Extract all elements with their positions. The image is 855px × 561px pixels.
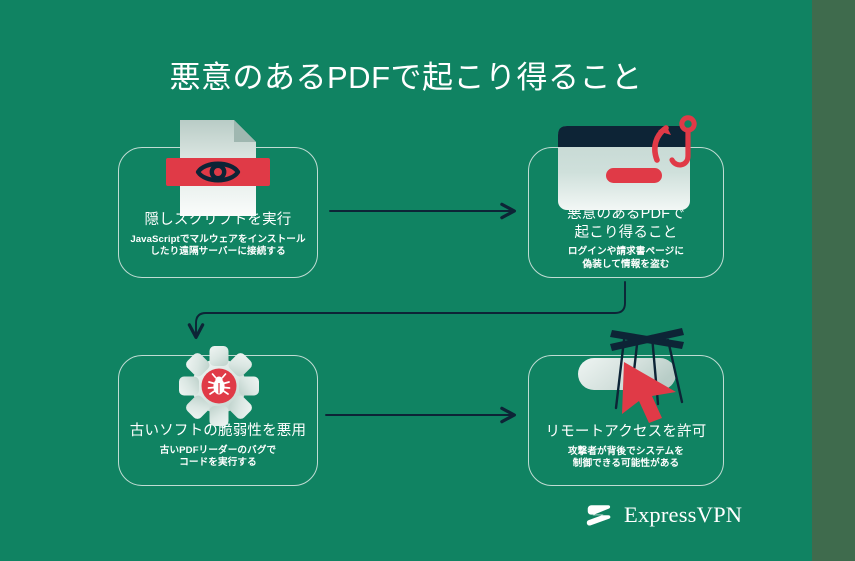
gear-bug-icon bbox=[176, 345, 262, 427]
card-malicious-pdf-text: 悪意のあるPDFで 起こり得ること ログインや請求書ページに 偽装して情報を盗む bbox=[529, 205, 723, 272]
infographic-canvas: 悪意のあるPDFで起こり得ること 隠しスクリプトを実行 JavaScriptでマ… bbox=[0, 0, 812, 561]
card-outdated-software-subtitle: 古いPDFリーダーのバグで コードを実行する bbox=[125, 445, 311, 471]
card-remote-access-subtitle: 攻撃者が背後でシステムを 制御できる可能性がある bbox=[535, 446, 717, 472]
puppet-cursor-icon bbox=[560, 322, 732, 426]
page-title: 悪意のあるPDFで起こり得ること bbox=[0, 52, 812, 97]
document-eye-icon bbox=[176, 120, 260, 216]
card-malicious-pdf-subtitle: ログインや請求書ページに 偽装して情報を盗む bbox=[535, 246, 717, 272]
card-hidden-script-text: 隠しスクリプトを実行 JavaScriptでマルウェアをインストール したり遠隔… bbox=[119, 211, 317, 259]
card-remote-access-text: リモートアクセスを許可 攻撃者が背後でシステムを 制御できる可能性がある bbox=[529, 423, 723, 471]
infographic-stage: 悪意のあるPDFで起こり得ること 隠しスクリプトを実行 JavaScriptでマ… bbox=[0, 0, 855, 561]
expressvpn-logo[interactable]: ExpressVPN bbox=[584, 500, 742, 530]
expressvpn-wordmark: ExpressVPN bbox=[624, 502, 742, 528]
card-malicious-pdf-title: 悪意のあるPDFで 起こり得ること bbox=[535, 205, 717, 242]
card-outdated-software-text: 古いソフトの脆弱性を悪用 古いPDFリーダーのバグで コードを実行する bbox=[119, 422, 317, 470]
expressvpn-logo-icon bbox=[584, 500, 614, 530]
card-hidden-script-subtitle: JavaScriptでマルウェアをインストール したり遠隔サーバーに接続する bbox=[125, 234, 311, 260]
phishing-hook-browser-icon bbox=[548, 118, 716, 210]
